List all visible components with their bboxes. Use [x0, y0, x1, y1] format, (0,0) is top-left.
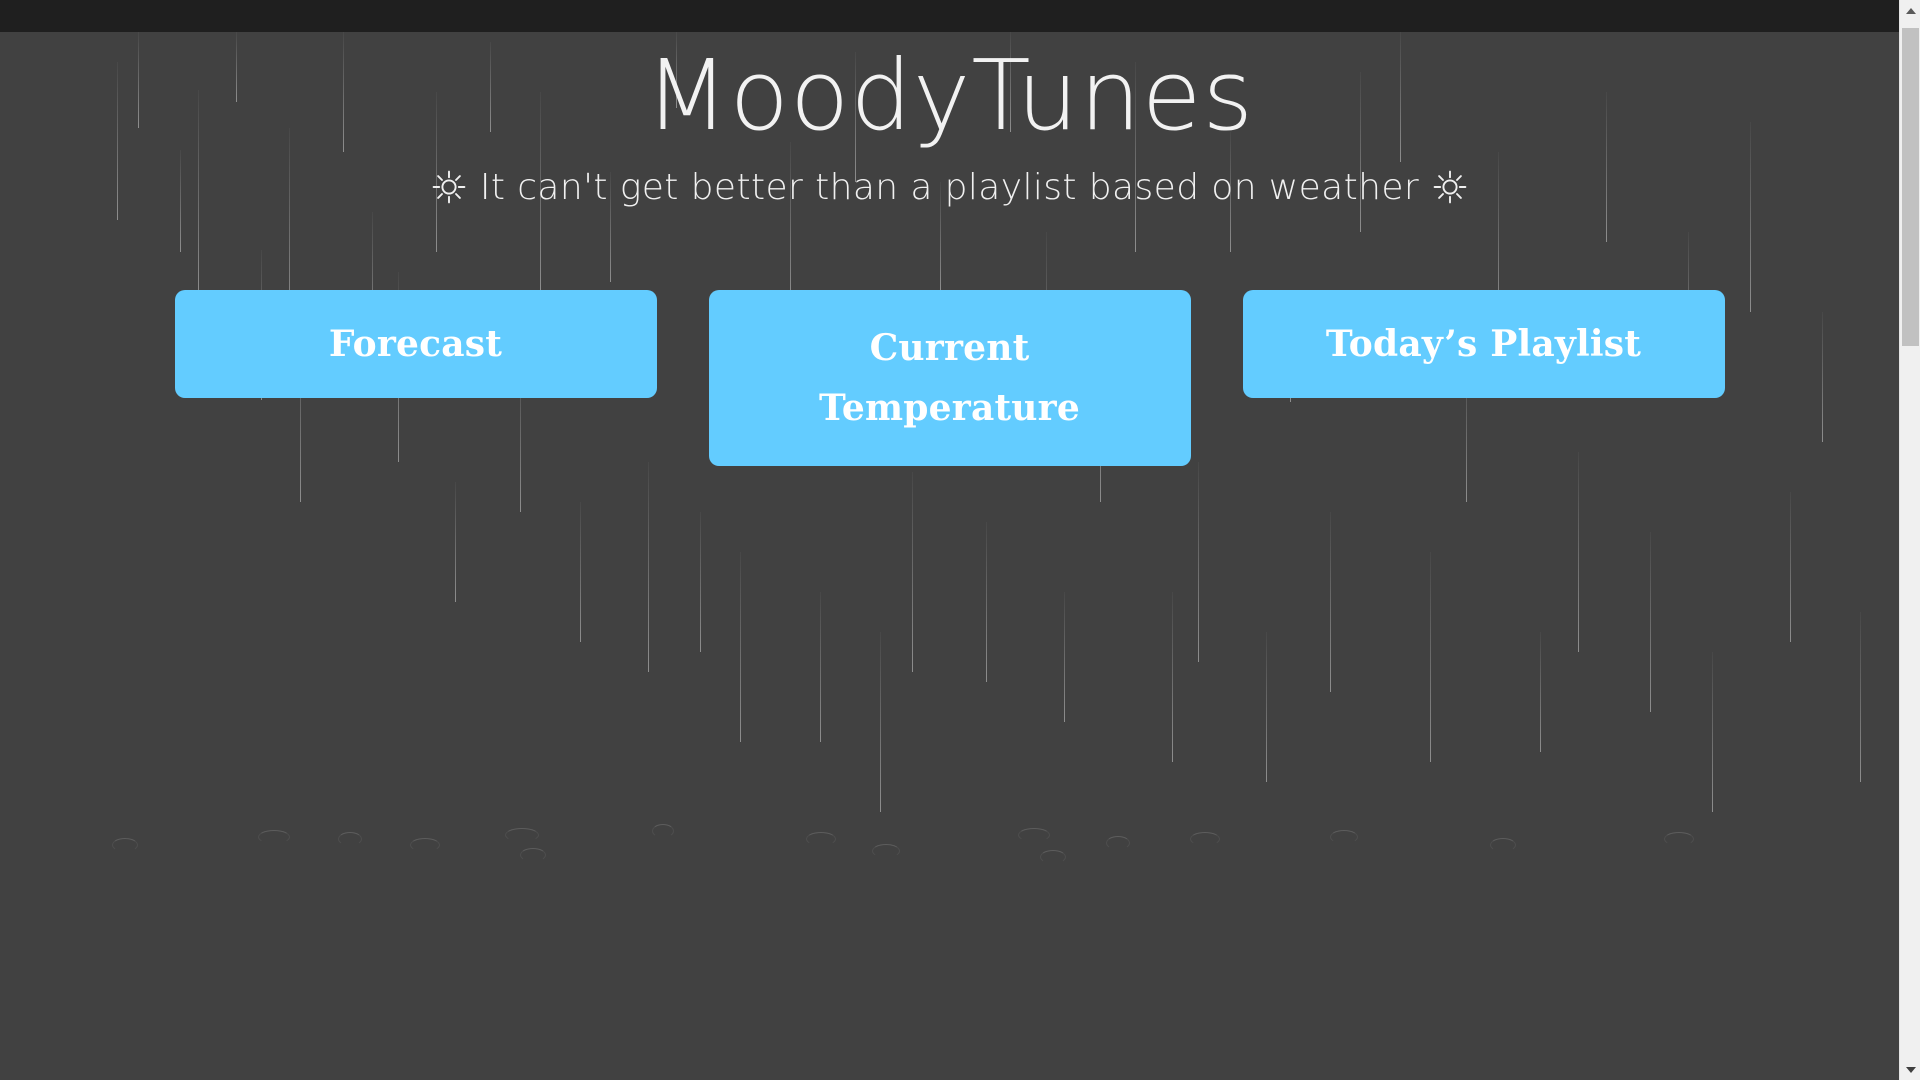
raindrop — [1198, 462, 1199, 662]
navigation-button-row: Forecast Current Temperature Today’s Pla… — [0, 290, 1899, 466]
scrollbar-thumb[interactable] — [1902, 28, 1919, 346]
page-title: MoodyTunes — [0, 42, 1899, 151]
raindrop — [1712, 652, 1713, 812]
vertical-scrollbar[interactable] — [1899, 0, 1920, 1080]
button-label-line-1: Current — [870, 318, 1030, 378]
raindrop — [1266, 632, 1267, 782]
raindrop — [580, 502, 581, 642]
page-viewport: MoodyTunes — [0, 32, 1899, 1080]
todays-playlist-button[interactable]: Today’s Playlist — [1243, 290, 1725, 398]
raindrop — [455, 482, 456, 602]
raindrop — [1330, 512, 1331, 692]
rain-splash — [112, 838, 138, 852]
raindrop — [1540, 632, 1541, 752]
sun-icon — [1433, 170, 1467, 204]
forecast-button[interactable]: Forecast — [175, 290, 657, 398]
app-root: MoodyTunes — [0, 0, 1920, 1080]
rain-splash — [1018, 828, 1050, 842]
page-subtitle: It can't get better than a playlist base… — [0, 165, 1899, 210]
rain-splash — [1040, 850, 1066, 864]
raindrop — [700, 512, 701, 652]
chevron-down-icon — [1906, 1067, 1916, 1073]
raindrop — [986, 522, 987, 682]
rain-splash — [652, 824, 674, 838]
raindrop — [1578, 452, 1579, 652]
raindrop — [740, 552, 741, 742]
rain-splash — [520, 848, 546, 862]
button-label-line-2: Temperature — [819, 378, 1080, 438]
chevron-up-icon — [1906, 8, 1916, 14]
raindrop — [1430, 552, 1431, 762]
rain-splash — [1664, 832, 1694, 846]
rain-splash — [258, 830, 290, 844]
rain-splash — [872, 844, 900, 858]
raindrop — [1860, 612, 1861, 782]
current-temperature-button[interactable]: Current Temperature — [709, 290, 1191, 466]
raindrop — [1790, 492, 1791, 642]
sun-icon — [432, 170, 466, 204]
rain-splash — [1190, 832, 1220, 846]
scroll-up-arrow-icon[interactable] — [1900, 0, 1920, 21]
raindrop — [912, 472, 913, 672]
raindrop — [1064, 592, 1065, 722]
raindrop — [1172, 592, 1173, 762]
rain-splash — [1330, 830, 1358, 844]
rain-splash — [1106, 836, 1130, 850]
rain-splash — [410, 838, 440, 852]
browser-chrome-bar — [0, 0, 1899, 32]
raindrop — [1650, 532, 1651, 712]
rain-splash — [505, 828, 539, 842]
rain-splash — [1490, 838, 1516, 852]
rain-splash — [338, 832, 362, 846]
raindrop — [880, 632, 881, 812]
rain-splash — [806, 832, 836, 846]
raindrop — [820, 592, 821, 742]
raindrop — [648, 462, 649, 672]
scroll-down-arrow-icon[interactable] — [1900, 1059, 1920, 1080]
page-content: MoodyTunes — [0, 42, 1899, 466]
subtitle-text: It can't get better than a playlist base… — [480, 165, 1419, 210]
